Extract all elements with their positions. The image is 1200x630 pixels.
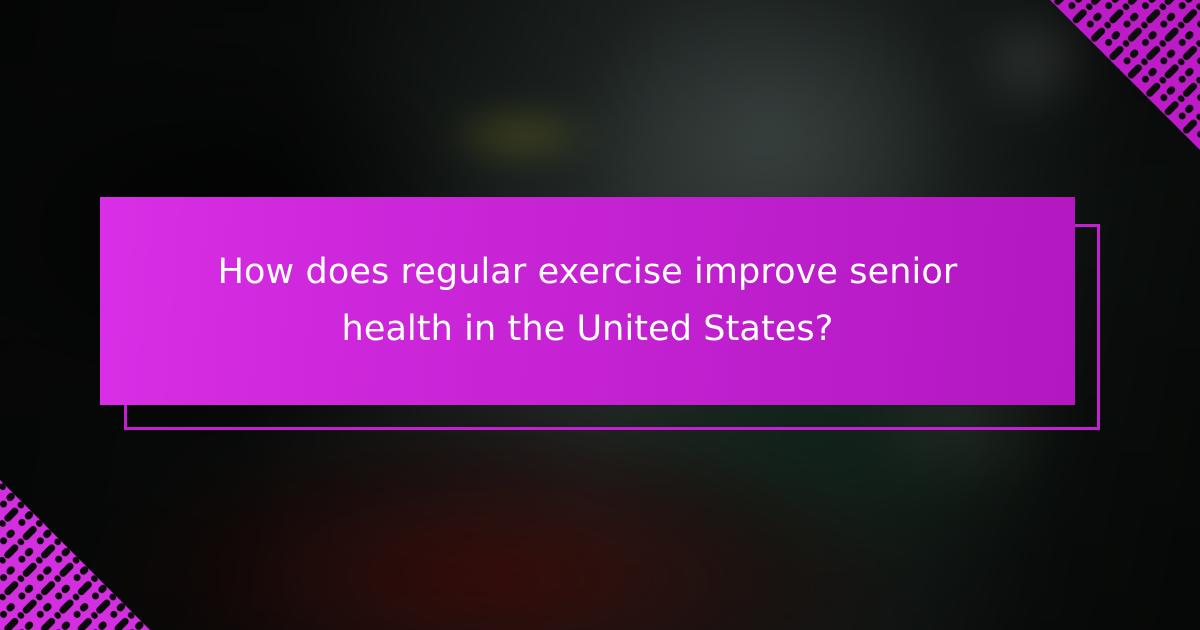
page-title: How does regular exercise improve senior… (208, 244, 968, 357)
quote-card: How does regular exercise improve senior… (0, 0, 1200, 630)
title-banner: How does regular exercise improve senior… (100, 197, 1075, 405)
